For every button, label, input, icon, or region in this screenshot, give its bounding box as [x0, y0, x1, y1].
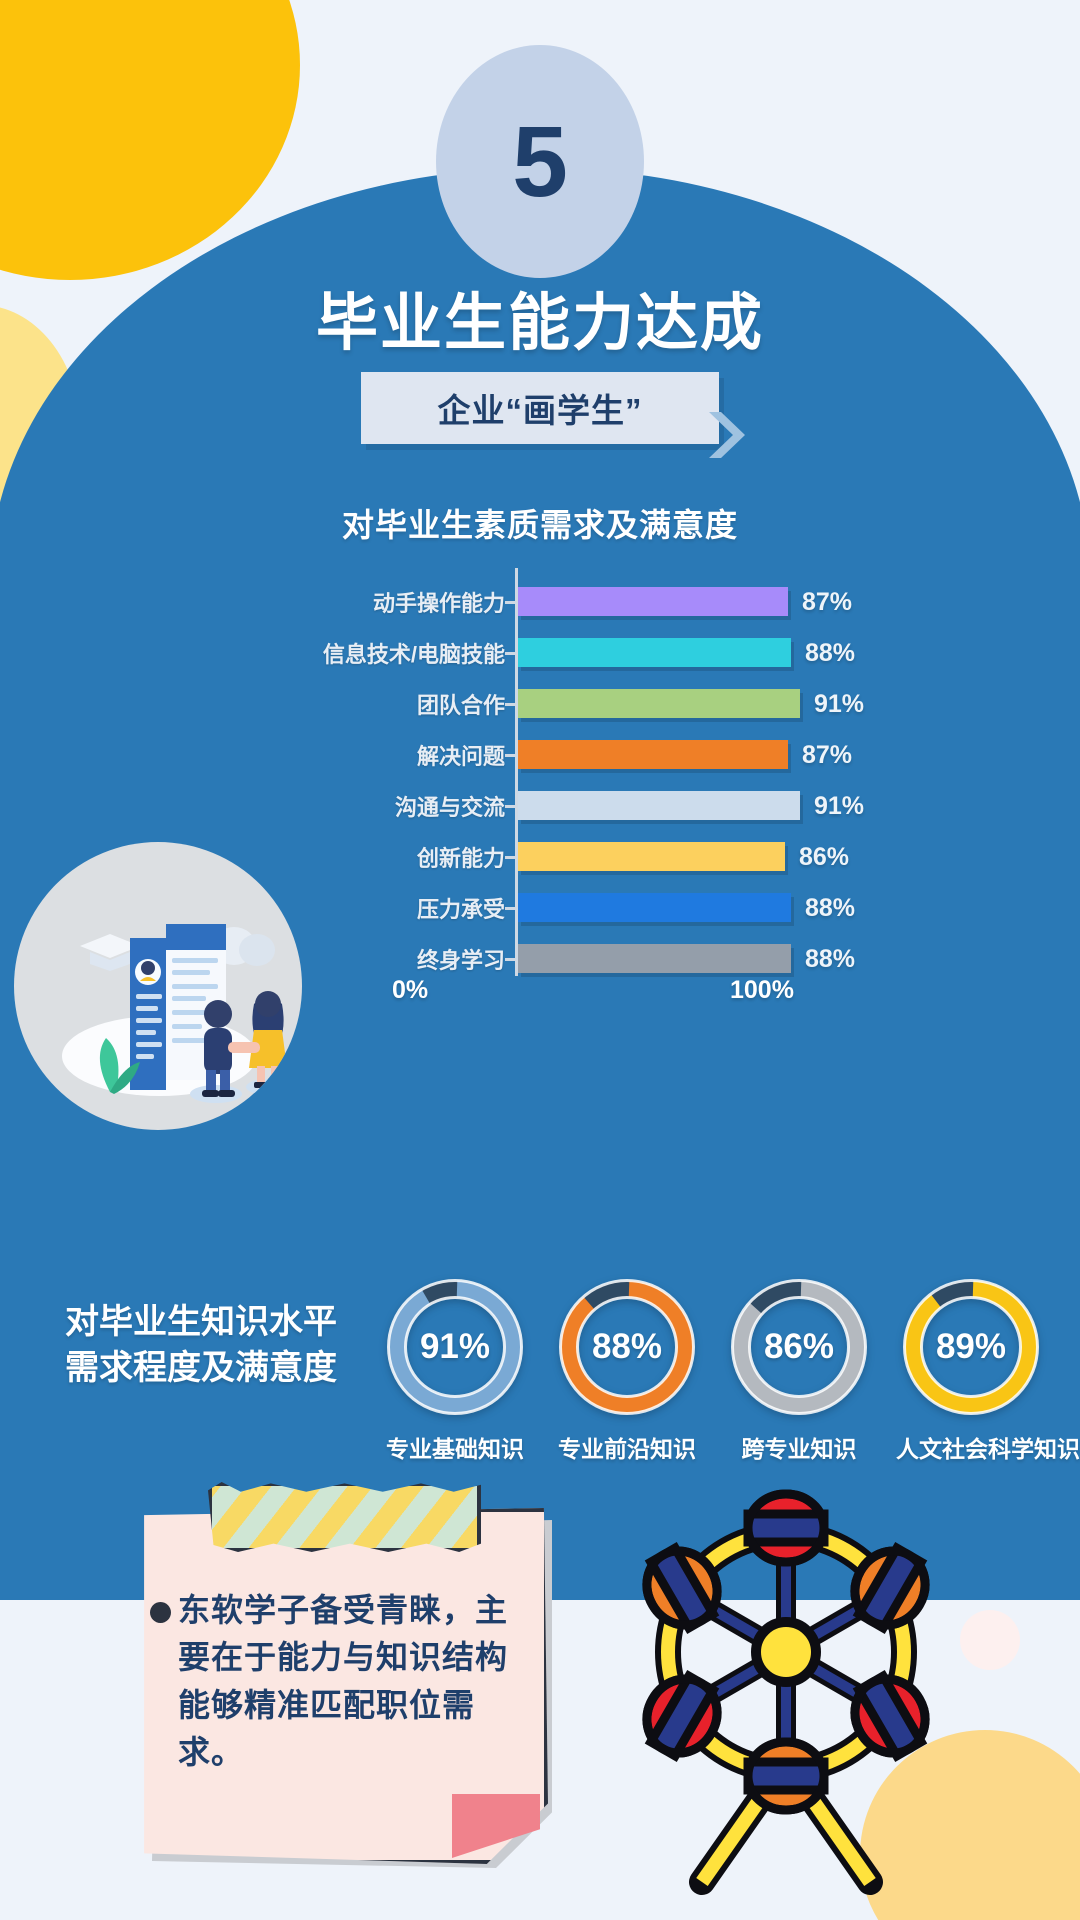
bar-value-label: 88%	[805, 945, 855, 974]
bar-wrapper	[518, 893, 791, 922]
section-number: 5	[512, 112, 568, 212]
bar	[518, 842, 785, 871]
ferris-wheel-icon	[590, 1462, 980, 1902]
bar-category-label: 终身学习	[300, 943, 515, 975]
bar-value-label: 91%	[814, 690, 864, 719]
axis-tick	[505, 958, 517, 961]
donut-ring: 88%	[552, 1272, 702, 1422]
bar-value-label: 91%	[814, 792, 864, 821]
washi-tape-icon	[208, 1482, 481, 1552]
bar-category-label: 信息技术/电脑技能	[300, 637, 515, 669]
donut-category-label: 专业基础知识	[380, 1430, 530, 1464]
bar	[518, 689, 800, 718]
bar-category-label: 创新能力	[300, 841, 515, 873]
axis-max-label: 100%	[730, 976, 794, 1005]
bar-wrapper	[518, 740, 788, 769]
donut-heading-line-1: 对毕业生知识水平	[36, 1300, 366, 1346]
bar	[518, 791, 800, 820]
bar-value-label: 87%	[802, 588, 852, 617]
donut-value-label: 86%	[724, 1272, 874, 1422]
donut-category-label: 人文社会科学知识	[896, 1430, 1046, 1464]
page-title: 毕业生能力达成	[0, 272, 1080, 362]
axis-tick	[505, 907, 517, 910]
axis-tick	[505, 601, 517, 604]
donut-chart: 89%人文社会科学知识	[896, 1272, 1046, 1464]
infographic-page: 5 毕业生能力达成 企业“画学生” 对毕业生素质需求及满意度	[0, 0, 1080, 1920]
axis-tick	[505, 754, 517, 757]
axis-tick	[505, 856, 517, 859]
axis-tick	[505, 703, 517, 706]
axis-tick	[505, 652, 517, 655]
bar-wrapper	[518, 638, 791, 667]
donut-chart-group: 91%专业基础知识88%专业前沿知识86%跨专业知识89%人文社会科学知识	[380, 1272, 1070, 1472]
handshake-resume-illustration	[14, 842, 302, 1130]
bar	[518, 944, 791, 973]
donut-chart-heading: 对毕业生知识水平 需求程度及满意度	[36, 1300, 366, 1392]
bar-category-label: 动手操作能力	[300, 586, 515, 618]
bar-category-label: 沟通与交流	[300, 790, 515, 822]
bar-wrapper	[518, 944, 791, 973]
donut-category-label: 跨专业知识	[724, 1430, 874, 1464]
bar-value-label: 88%	[805, 639, 855, 668]
donut-chart: 86%跨专业知识	[724, 1272, 874, 1464]
bar	[518, 638, 791, 667]
bar-chart: 动手操作能力87%信息技术/电脑技能88%团队合作91%解决问题87%沟通与交流…	[300, 568, 970, 988]
bar	[518, 740, 788, 769]
note-text: 东软学子备受青睐，主要在于能力与知识结构能够精准匹配职位需求。	[178, 1587, 528, 1776]
bar-category-label: 压力承受	[300, 892, 515, 924]
subtitle-chip[interactable]: 企业“画学生”	[361, 372, 719, 444]
bar-wrapper	[518, 791, 800, 820]
bar-value-label: 86%	[799, 843, 849, 872]
donut-heading-line-2: 需求程度及满意度	[36, 1346, 366, 1392]
bar-category-label: 团队合作	[300, 688, 515, 720]
bar-category-label: 解决问题	[300, 739, 515, 771]
bar-chart-heading: 对毕业生素质需求及满意度	[0, 500, 1080, 546]
bar-wrapper	[518, 842, 785, 871]
bar	[518, 893, 791, 922]
donut-ring: 89%	[896, 1272, 1046, 1422]
donut-value-label: 89%	[896, 1272, 1046, 1422]
donut-value-label: 91%	[380, 1272, 530, 1422]
section-number-badge: 5	[436, 45, 644, 278]
bar-value-label: 87%	[802, 741, 852, 770]
bar-wrapper	[518, 587, 788, 616]
donut-value-label: 88%	[552, 1272, 702, 1422]
donut-ring: 86%	[724, 1272, 874, 1422]
donut-chart: 91%专业基础知识	[380, 1272, 530, 1464]
axis-tick	[505, 805, 517, 808]
bar-wrapper	[518, 689, 800, 718]
donut-ring: 91%	[380, 1272, 530, 1422]
axis-min-label: 0%	[392, 976, 428, 1005]
donut-chart: 88%专业前沿知识	[552, 1272, 702, 1464]
bar	[518, 587, 788, 616]
bar-value-label: 88%	[805, 894, 855, 923]
subtitle-label: 企业“画学生”	[438, 384, 643, 432]
bullet-dot-icon	[150, 1602, 171, 1623]
donut-category-label: 专业前沿知识	[552, 1430, 702, 1464]
